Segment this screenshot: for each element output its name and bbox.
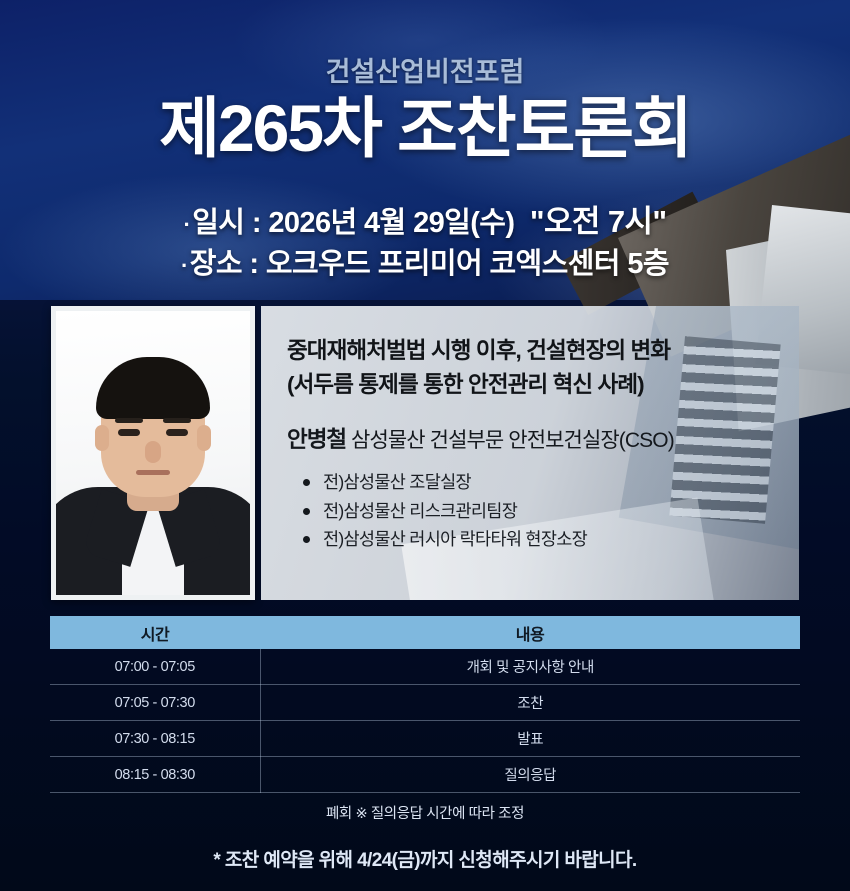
cell-time: 07:00 - 07:05 [50,649,260,685]
speaker-section: 중대재해처벌법 시행 이후, 건설현장의 변화 (서두름 통제를 통한 안전관리… [0,302,850,606]
cell-content: 질의응답 [260,757,800,793]
column-header-content: 내용 [260,616,800,649]
cell-time: 07:05 - 07:30 [50,685,260,721]
table-row: 08:15 - 08:30 질의응답 [50,757,800,793]
table-row: 07:00 - 07:05 개회 및 공지사항 안내 [50,649,800,685]
list-item: 전)삼성물산 조달실장 [301,468,777,496]
cell-time: 07:30 - 08:15 [50,721,260,757]
table-row: 07:30 - 08:15 발표 [50,721,800,757]
forum-name: 건설산업비전포럼 [0,50,850,89]
cell-content: 조찬 [260,685,800,721]
cell-content: 개회 및 공지사항 안내 [260,649,800,685]
speaker-photo-frame [51,306,255,600]
portrait-eye-right [166,429,188,436]
event-date-line: ·일시 : 2026년 4월 29일(수) "오전 7시" [0,200,850,244]
event-place-line: ·장소 : 오크우드 프리미어 코엑스센터 5층 [0,244,850,285]
table-row-closing: 폐회 ※ 질의응답 시간에 따라 조정 [50,793,800,832]
table-header-row: 시간 내용 [50,616,800,649]
portrait-hair [96,357,210,419]
list-item: 전)삼성물산 리스크관리팀장 [301,497,777,525]
portrait-eye-left [118,429,140,436]
column-header-time: 시간 [50,616,260,649]
place-value: 오크우드 프리미어 코엑스센터 5층 [266,248,669,280]
talk-title-line-2: (서두름 통제를 통한 안전관리 혁신 사례) [287,368,777,402]
schedule-table: 시간 내용 07:00 - 07:05 개회 및 공지사항 안내 07:05 -… [50,616,800,831]
place-label: 장소 : [190,248,259,280]
bullet-dot-icon: · [181,253,188,278]
portrait-ear-left [95,425,109,451]
bullet-dot-icon: · [183,212,190,237]
portrait-nose [145,441,161,463]
footer-note: * 조찬 예약을 위해 4/24(금)까지 신청해주시기 바랍니다. [0,845,850,872]
event-poster: 건설산업비전포럼 제265차 조찬토론회 ·일시 : 2026년 4월 29일(… [0,0,850,891]
speaker-line: 안병철 삼성물산 건설부문 안전보건실장(CSO) [287,422,777,454]
portrait-ear-right [197,425,211,451]
speaker-affiliation: 삼성물산 건설부문 안전보건실장(CSO) [351,429,674,452]
speaker-portrait [56,311,250,595]
list-item: 전)삼성물산 러시아 락타타워 현장소장 [301,525,777,553]
cell-content: 발표 [260,721,800,757]
cell-time: 08:15 - 08:30 [50,757,260,793]
table-row: 07:05 - 07:30 조찬 [50,685,800,721]
session-content-panel: 중대재해처벌법 시행 이후, 건설현장의 변화 (서두름 통제를 통한 안전관리… [261,306,799,600]
speaker-name: 안병철 [287,427,346,452]
portrait-mouth [136,470,170,475]
time-emphasis: "오전 7시" [530,204,667,239]
portrait-brow-left [115,418,143,423]
page-title: 제265차 조찬토론회 [0,94,850,163]
event-info-block: ·일시 : 2026년 4월 29일(수) "오전 7시" ·장소 : 오크우드… [0,200,850,285]
talk-title-line-1: 중대재해처벌법 시행 이후, 건설현장의 변화 [287,334,777,368]
session-content-body: 중대재해처벌법 시행 이후, 건설현장의 변화 (서두름 통제를 통한 안전관리… [261,306,799,553]
speaker-career-list: 전)삼성물산 조달실장 전)삼성물산 리스크관리팀장 전)삼성물산 러시아 락타… [287,468,777,553]
closing-note: 폐회 ※ 질의응답 시간에 따라 조정 [50,793,800,832]
date-value: 2026년 4월 29일(수) [268,207,514,239]
date-label: 일시 : [192,207,261,239]
portrait-brow-right [163,418,191,423]
